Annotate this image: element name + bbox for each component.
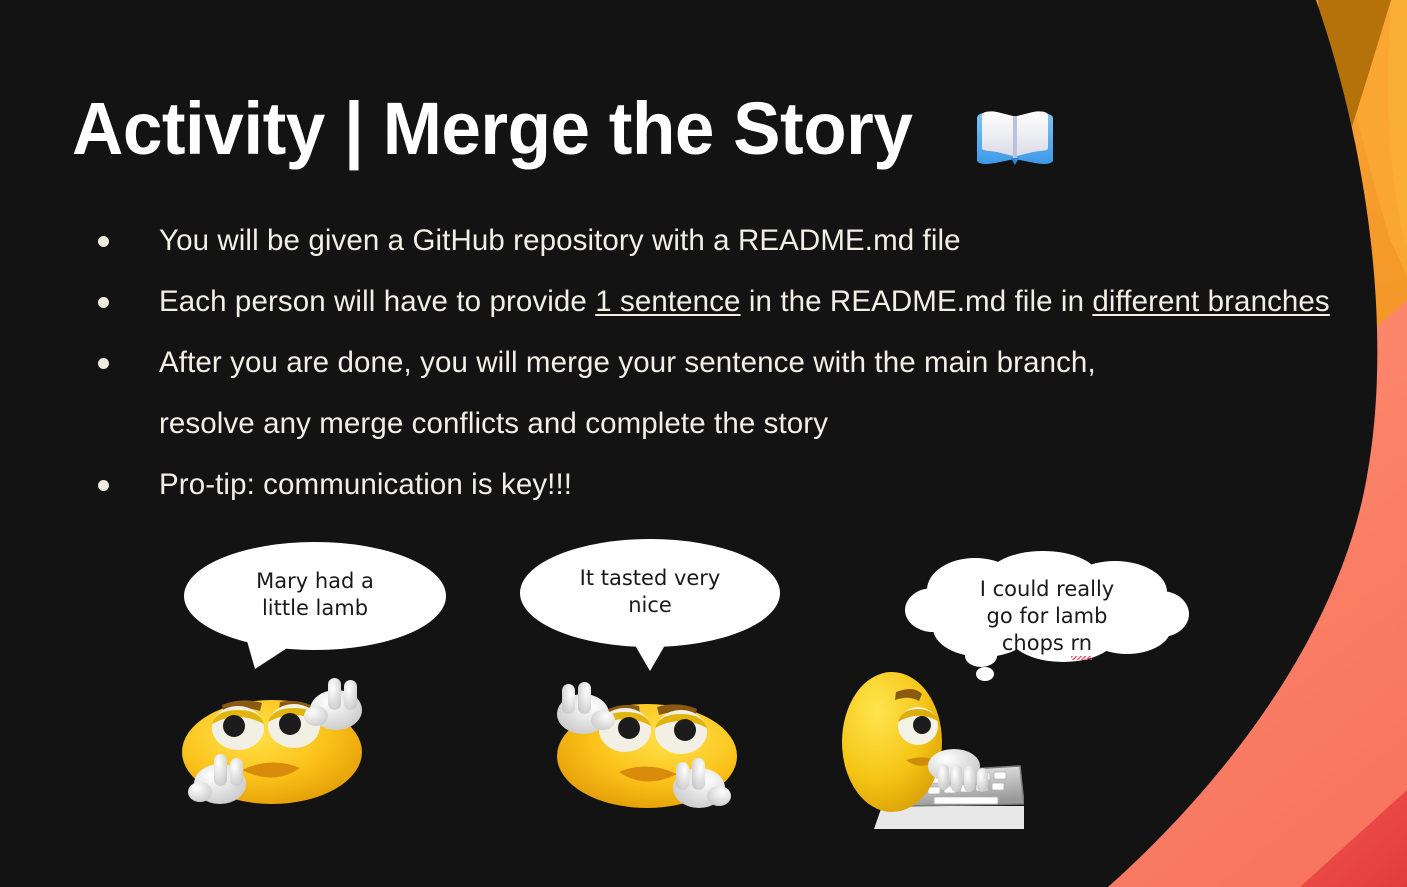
slide-title-row: Activity | Merge the Story	[72, 92, 1057, 166]
page-title: Activity | Merge the Story	[72, 92, 912, 166]
speech-bubble-1: Mary had a little lamb	[183, 541, 447, 671]
bullet-segment: You will be given a GitHub repository wi…	[159, 224, 961, 257]
air-quotes-emoji-1	[176, 668, 388, 808]
bullet-marker-placeholder	[98, 419, 109, 430]
bullet-text-2: Each person will have to provide 1 sente…	[159, 283, 1330, 322]
bullet-text-3-continued: resolve any merge conflicts and complete…	[159, 405, 828, 444]
bullet-list: You will be given a GitHub repository wi…	[90, 222, 1380, 527]
speech-bubble-2: It tasted very nice	[519, 538, 781, 674]
list-item: Each person will have to provide 1 sente…	[90, 283, 1380, 322]
bullet-segment: Pro-tip: communication is key!!!	[159, 468, 572, 501]
bullet-marker-icon	[98, 297, 109, 308]
bullet-segment: resolve any merge conflicts and complete…	[159, 407, 828, 440]
bullet-segment: Each person will have to provide	[159, 285, 595, 318]
thought-bubble-3: I could really go for lamb chops rn	[903, 548, 1191, 696]
open-book-emoji	[973, 102, 1057, 168]
thought-bubble-3-shape	[903, 548, 1191, 696]
bullet-segment: After you are done, you will merge your …	[159, 346, 1096, 379]
bullet-segment: in the README.md file in	[741, 285, 1093, 318]
list-item: You will be given a GitHub repository wi…	[90, 222, 1380, 261]
list-item: Pro-tip: communication is key!!!	[90, 466, 1380, 505]
air-quotes-emoji-2	[531, 672, 743, 812]
bullet-segment-underlined: different branches	[1092, 285, 1329, 318]
bullet-marker-icon	[98, 480, 109, 491]
bullet-text-4: Pro-tip: communication is key!!!	[159, 466, 572, 505]
slide-canvas: Activity | Merge the Story	[0, 0, 1407, 887]
bullet-marker-icon	[98, 358, 109, 369]
bullet-marker-icon	[98, 236, 109, 247]
list-item-continuation: resolve any merge conflicts and complete…	[90, 405, 1380, 444]
bullet-text-3: After you are done, you will merge your …	[159, 344, 1096, 383]
list-item: After you are done, you will merge your …	[90, 344, 1380, 383]
bullet-text-1: You will be given a GitHub repository wi…	[159, 222, 961, 261]
bullet-segment-underlined: 1 sentence	[595, 285, 740, 318]
speech-bubble-2-shape	[519, 538, 781, 674]
speech-bubble-1-shape	[183, 541, 447, 671]
